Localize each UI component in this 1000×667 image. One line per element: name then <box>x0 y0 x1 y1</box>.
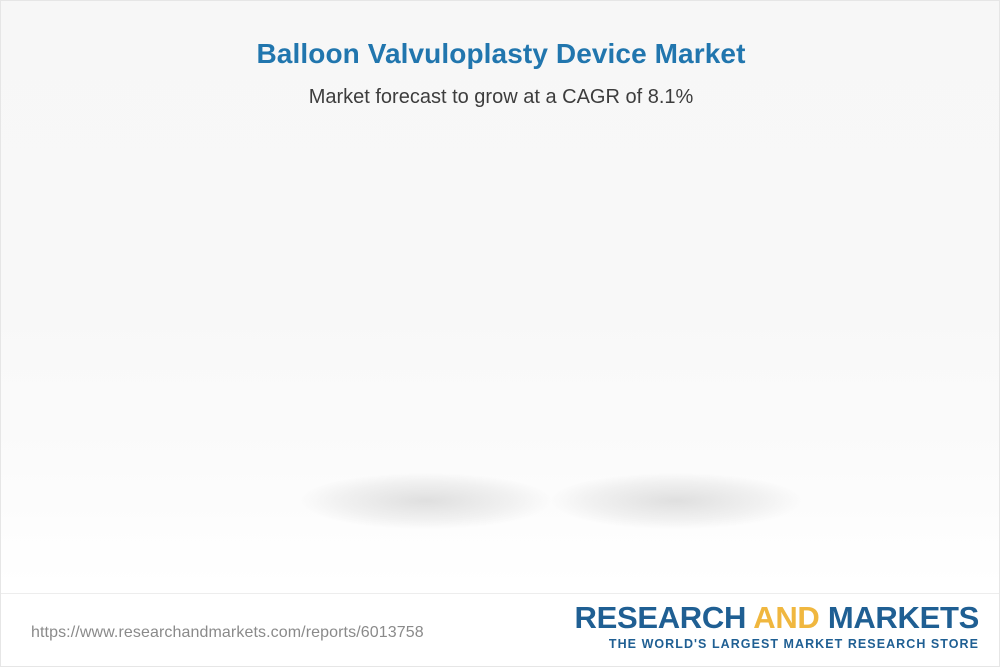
logo-tagline: THE WORLD'S LARGEST MARKET RESEARCH STOR… <box>575 638 980 652</box>
logo-text-markets: MARKETS <box>820 600 980 635</box>
market-forecast-infographic: Balloon Valvuloplasty Device Market Mark… <box>0 0 1000 667</box>
logo-text-and: AND <box>753 600 819 635</box>
research-and-markets-logo[interactable]: RESEARCH AND MARKETS THE WORLD'S LARGEST… <box>575 602 980 651</box>
report-url[interactable]: https://www.researchandmarkets.com/repor… <box>31 624 424 642</box>
bar-shadow-2032 <box>551 473 801 529</box>
bar-shadow-2026 <box>301 473 551 529</box>
logo-wordmark: RESEARCH AND MARKETS <box>575 602 980 635</box>
chart-plot-area: USD 2.64 Billion <box>1 1 1000 593</box>
footer: https://www.researchandmarkets.com/repor… <box>1 593 1000 667</box>
logo-text-research: RESEARCH <box>575 600 754 635</box>
